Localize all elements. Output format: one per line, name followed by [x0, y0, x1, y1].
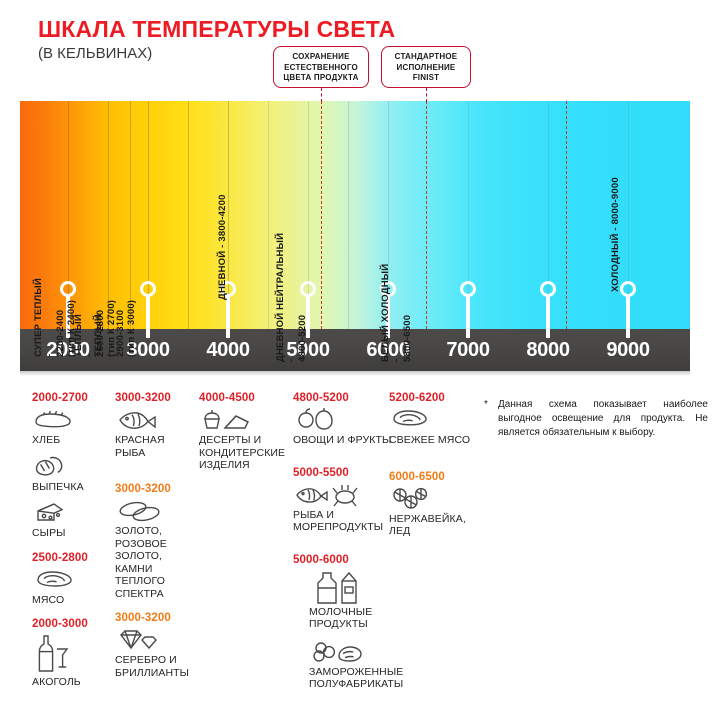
legend-column-5: 5200-6200 СВЕЖЕЕ МЯСО 6000-6500 [389, 392, 477, 545]
list-item[interactable]: СВЕЖЕЕ МЯСО [389, 407, 477, 447]
band-separator [268, 101, 269, 329]
list-item-label: МОЛОЧНЫЕ ПРОДУКТЫ [309, 606, 397, 631]
list-item[interactable]: ДЕСЕРТЫ И КОНДИТЕРСКИЕ ИЗДЕЛИЯ [199, 407, 287, 472]
list-item[interactable]: РЫБА И МОРЕПРОДУКТЫ [293, 482, 397, 534]
list-item[interactable]: СЫРЫ [32, 500, 110, 540]
legend-range: 3000-3200 [115, 483, 197, 495]
ruler-label-4000: 4000 [188, 339, 268, 362]
ruler-shadow [20, 371, 690, 376]
meat-icon [32, 567, 110, 593]
legend-range: 2000-2700 [32, 392, 110, 404]
band-separator [108, 101, 109, 329]
list-item[interactable]: ЗАМОРОЖЕННЫЕ ПОЛУФАБРИКАТЫ [309, 639, 397, 691]
legend-column-4: 4800-5200 ОВОЩИ И ФРУКТЫ 5000-5500 [293, 392, 397, 698]
list-item[interactable]: ЗОЛОТО, РОЗОВОЕ ЗОЛОТО, КАМНИ ТЕПЛОГО СП… [115, 498, 197, 600]
legend-group: 2000-3000 АКОГОЛЬ [32, 618, 110, 689]
list-item-label: СЕРЕБРО И БРИЛЛИАНТЫ [115, 654, 197, 679]
list-item-label: ХЛЕБ [32, 434, 110, 447]
band-label-daylight: ДНЕВНОЙ - 3800-4200 [217, 194, 228, 300]
list-item[interactable]: КРАСНАЯ РЫБА [115, 407, 197, 459]
page-title: ШКАЛА ТЕМПЕРАТУРЫ СВЕТА [38, 16, 395, 42]
list-item-label: ЗАМОРОЖЕННЫЕ ПОЛУФАБРИКАТЫ [309, 666, 397, 691]
callout-standard-finist[interactable]: СТАНДАРТНОЕ ИСПОЛНЕНИЕ FINIST [381, 46, 471, 88]
callout-line-3: ЦВЕТА ПРОДУКТА [280, 73, 362, 84]
legend-range: 6000-6500 [389, 471, 477, 483]
dairy-icon [309, 569, 397, 605]
ruler-label-7000: 7000 [428, 339, 508, 362]
list-item-label: РЫБА И МОРЕПРОДУКТЫ [293, 509, 397, 534]
legend-group: 4800-5200 ОВОЩИ И ФРУКТЫ [293, 392, 397, 447]
list-item[interactable]: НЕРЖАВЕЙКА, ЛЕД [389, 486, 477, 538]
callout-line-2: ЕСТЕСТВЕННОГО [280, 63, 362, 74]
list-item-label: СВЕЖЕЕ МЯСО [389, 434, 477, 447]
vegetables-icon [293, 407, 397, 433]
ice-icon [389, 486, 477, 512]
rings-icon [115, 498, 197, 524]
guide-6500 [566, 101, 567, 329]
pastry-icon [32, 454, 110, 480]
legend-group: 2500-2800 МЯСО [32, 552, 110, 607]
footnote-star: * [484, 398, 488, 412]
legend-group: 4000-4500 ДЕСЕРТЫ И КОНДИТЕРСКИЕ ИЗДЕЛИЯ [199, 392, 287, 472]
cheese-icon [32, 500, 110, 526]
color-temperature-gradient [20, 101, 690, 329]
frozen-icon [309, 639, 397, 665]
footnote-text: Данная схема показывает наиболее выгодно… [498, 398, 708, 440]
list-item-label: ОВОЩИ И ФРУКТЫ [293, 434, 397, 447]
callout-line-3: FINIST [388, 73, 464, 84]
list-item-label: НЕРЖАВЕЙКА, ЛЕД [389, 513, 477, 538]
guide-6000 [426, 101, 427, 329]
legend-range: 4800-5200 [293, 392, 397, 404]
list-item[interactable]: АКОГОЛЬ [32, 633, 110, 689]
band-label-super-warm: СУПЕР ТЕПЛЫЙ - 2200-2400 (тип К 2400) [33, 278, 77, 357]
temperature-scale: СУПЕР ТЕПЛЫЙ - 2200-2400 (тип К 2400) ТЕ… [20, 101, 690, 329]
callout-natural-color[interactable]: СОХРАНЕНИЕ ЕСТЕСТВЕННОГО ЦВЕТА ПРОДУКТА [273, 46, 369, 88]
legend-range: 5200-6200 [389, 392, 477, 404]
list-item[interactable]: СЕРЕБРО И БРИЛЛИАНТЫ [115, 627, 197, 679]
band-label-warm-3000: ТЕПЛЫЙ - 2900-3100 (тип К 3000) [93, 300, 137, 357]
legend-group: 5000-5500 РЫБА И МОРЕПРОДУКТЫ [293, 467, 397, 534]
legend-range: 3000-3200 [115, 392, 197, 404]
legend-group: 3000-3200 ЗОЛОТО, РОЗОВОЕ ЗОЛОТО, КАМНИ … [115, 483, 197, 600]
callout-standard-stem [426, 88, 427, 102]
band-separator [188, 101, 189, 329]
callout-natural-stem [321, 88, 322, 102]
legend-range: 5000-5500 [293, 467, 397, 479]
band-separator [130, 101, 131, 329]
seafood-icon [293, 482, 397, 508]
callout-line-1: СОХРАНЕНИЕ [280, 52, 362, 63]
list-item-label: ЗОЛОТО, РОЗОВОЕ ЗОЛОТО, КАМНИ ТЕПЛОГО СП… [115, 525, 197, 600]
fresh-meat-icon [389, 407, 477, 433]
list-item[interactable]: ОВОЩИ И ФРУКТЫ [293, 407, 397, 447]
callout-line-2: ИСПОЛНЕНИЕ [388, 63, 464, 74]
legend-group: 5200-6200 СВЕЖЕЕ МЯСО [389, 392, 477, 447]
footnote: * Данная схема показывает наиболее выгод… [484, 398, 708, 440]
band-label-cold: ХОЛОДНЫЙ - 8000-9000 [610, 177, 621, 292]
list-item[interactable]: МЯСО [32, 567, 110, 607]
list-item-label: ДЕСЕРТЫ И КОНДИТЕРСКИЕ ИЗДЕЛИЯ [199, 434, 287, 472]
list-item-label: СЫРЫ [32, 527, 110, 540]
list-item[interactable]: ВЫПЕЧКА [32, 454, 110, 494]
ruler-label-8000: 8000 [508, 339, 588, 362]
legend-range: 2500-2800 [32, 552, 110, 564]
band-label-cool-white: БЕЛЫЙ ХОЛОДНЫЙ - 5800-6500 [380, 264, 413, 362]
legend-group: 6000-6500 НЕРЖАВЕЙКА, ЛЕД [389, 471, 477, 538]
legend-group: 3000-3200 СЕРЕБРО И БРИЛЛИАНТЫ [115, 612, 197, 679]
legend-group: 2000-2700 ХЛЕБ ВЫП [32, 392, 110, 540]
bread-icon [32, 407, 110, 433]
fish-icon [115, 407, 197, 433]
list-item-label: АКОГОЛЬ [32, 676, 110, 689]
legend-group: 5000-6000 МОЛОЧНЫЕ ПРОДУКТЫ [293, 554, 397, 691]
legend-range: 2000-3000 [32, 618, 110, 630]
legend-range: 3000-3200 [115, 612, 197, 624]
list-item-label: ВЫПЕЧКА [32, 481, 110, 494]
list-item[interactable]: МОЛОЧНЫЕ ПРОДУКТЫ [309, 569, 397, 631]
legend-column-1: 2000-2700 ХЛЕБ ВЫП [32, 392, 110, 696]
legend-column-2: 3000-3200 КРАСНАЯ РЫБА 3000-3200 [115, 392, 197, 686]
legend-group: 3000-3200 КРАСНАЯ РЫБА [115, 392, 197, 459]
alcohol-icon [32, 633, 110, 675]
ruler-label-9000: 9000 [588, 339, 668, 362]
legend-column-3: 4000-4500 ДЕСЕРТЫ И КОНДИТЕРСКИЕ ИЗДЕЛИЯ [199, 392, 287, 479]
guide-5000 [321, 101, 322, 329]
legend-range: 4000-4500 [199, 392, 287, 404]
dessert-icon [199, 407, 287, 433]
diamond-icon [115, 627, 197, 653]
list-item-label: КРАСНАЯ РЫБА [115, 434, 197, 459]
band-separator [348, 101, 349, 329]
list-item-label: МЯСО [32, 594, 110, 607]
legend-range: 5000-6000 [293, 554, 397, 566]
product-legend: 2000-2700 ХЛЕБ ВЫП [0, 392, 720, 692]
list-item[interactable]: ХЛЕБ [32, 407, 110, 447]
callout-line-1: СТАНДАРТНОЕ [388, 52, 464, 63]
band-label-daylight-neutral: ДНЕВНОЙ НЕЙТРАЛЬНЫЙ - 4800-5200 [275, 233, 308, 362]
